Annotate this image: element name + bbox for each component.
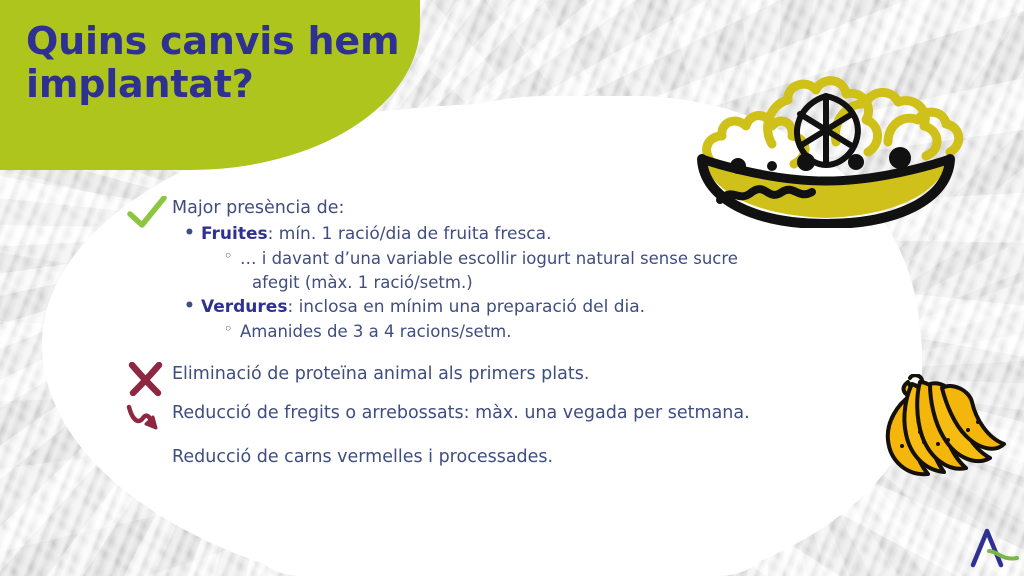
red-cross-icon [126,362,170,396]
bullet-rest-verdures: : inclosa en mínim una preparació del di… [287,297,645,317]
list-item: ◦ Amanides de 3 a 4 racions/setm. [126,320,916,344]
slide-canvas: Quins canvis hem implantat? [0,0,1024,576]
spacer [126,344,916,362]
sub-line-2-wrap: afegit (màx. 1 ració/setm.) [126,271,916,295]
list-item: Reducció de fregits o arrebossats: màx. … [126,401,916,427]
bullet-label-fruites: Fruites [201,224,268,244]
list-item: Eliminació de proteïna animal als primer… [126,362,916,388]
block4-text: Reducció de carns vermelles i processade… [126,445,916,471]
list-item: • Verdures: inclosa en mínim una prepara… [126,295,916,320]
bullet-dot: • [184,294,195,319]
block2-text: Eliminació de proteïna animal als primer… [126,362,916,388]
sub-line-amanides: Amanides de 3 a 4 racions/setm. [240,322,512,341]
list-item: ◦ … i davant d’una variable escollir iog… [126,247,916,271]
list-item: Reducció de carns vermelles i processade… [126,445,916,471]
down-arrow-icon [126,401,170,435]
page-title: Quins canvis hem implantat? [26,20,496,106]
bullet-dot: • [184,221,195,246]
sub-line-1: … i davant d’una variable escollir iogur… [240,249,738,268]
organization-logo [967,525,1021,571]
list-item: Major presència de: [126,196,916,222]
bullet-circle: ◦ [224,247,232,266]
block3-text: Reducció de fregits o arrebossats: màx. … [126,401,916,427]
bullet-label-verdures: Verdures [201,297,287,317]
block1-heading: Major presència de: [126,196,916,222]
spacer [126,427,916,445]
sub-line-2: afegit (màx. 1 ració/setm.) [252,273,473,292]
list-item: • Fruites: mín. 1 ració/dia de fruita fr… [126,222,916,247]
spacer [126,388,916,401]
bullet-rest-fruites: : mín. 1 ració/dia de fruita fresca. [268,224,552,244]
bullet-circle: ◦ [224,320,232,339]
content-list: Major presència de: • Fruites: mín. 1 ra… [126,196,916,471]
